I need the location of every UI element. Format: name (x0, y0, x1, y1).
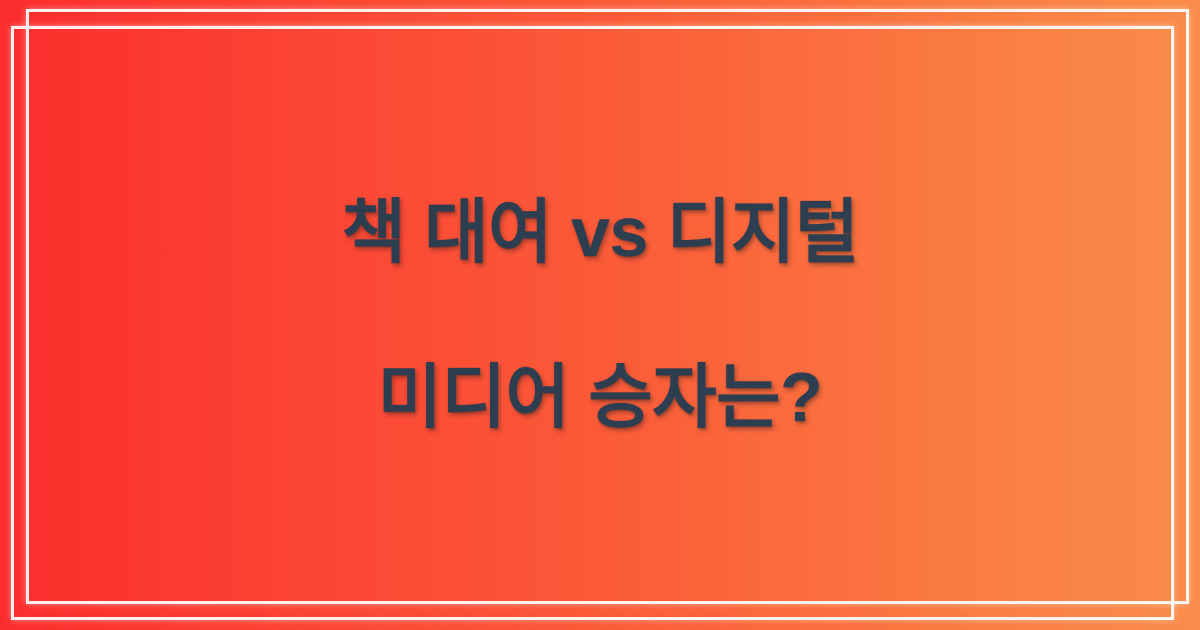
page-title: 책 대여 vs 디지털 미디어 승자는? (341, 111, 858, 519)
title-container: 책 대여 vs 디지털 미디어 승자는? (0, 0, 1200, 630)
title-line-2: 미디어 승자는? (341, 357, 858, 438)
thumbnail-canvas: 책 대여 vs 디지털 미디어 승자는? (0, 0, 1200, 630)
title-line-1: 책 대여 vs 디지털 (341, 192, 858, 273)
